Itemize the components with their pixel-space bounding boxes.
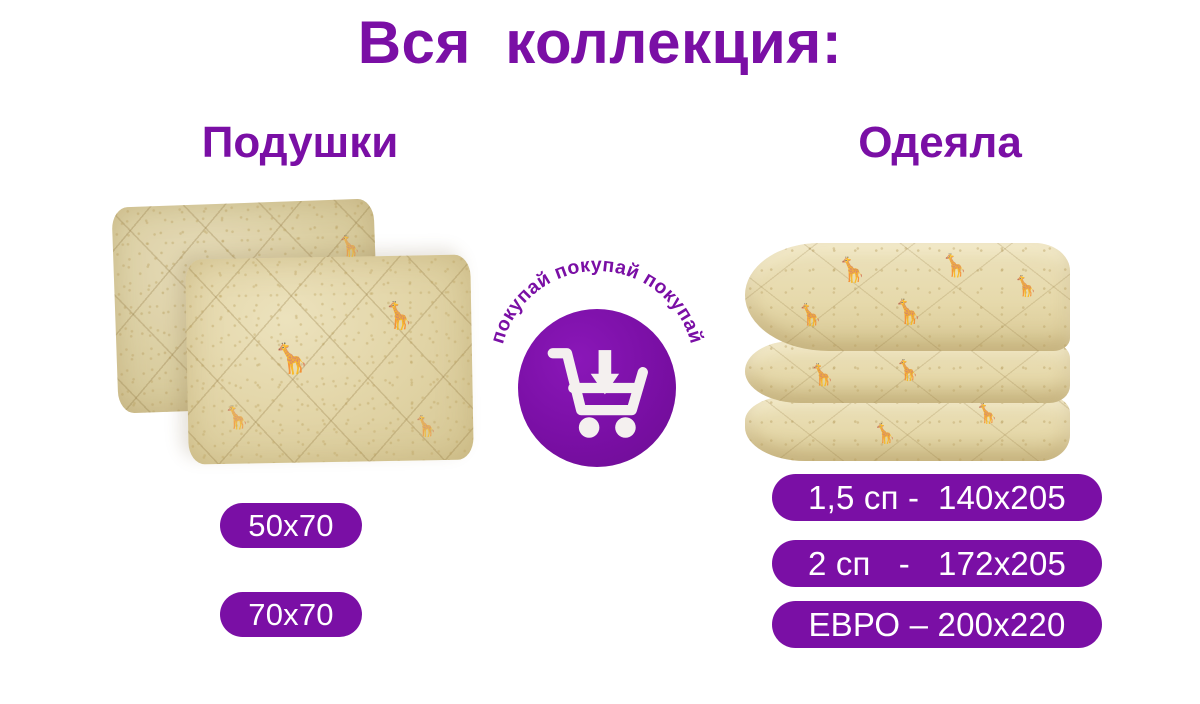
size-pill-blanket-2sp[interactable]: 2 сп - 172x205 xyxy=(772,540,1102,587)
blanket-fold-bottom xyxy=(745,395,1070,461)
size-pill-pillow-50x70[interactable]: 50x70 xyxy=(220,503,362,548)
blanket-product-image: 🦒 🦒 🦒 🦒 🦒 🦒 🦒 🦒 🦒 xyxy=(745,243,1070,463)
buy-badge[interactable]: покупай покупай покупай xyxy=(487,258,707,478)
size-pill-blanket-1-5sp[interactable]: 1,5 сп - 140x205 xyxy=(772,474,1102,521)
section-heading-pillows: Подушки xyxy=(60,118,540,168)
shopping-cart-download-icon xyxy=(518,309,676,467)
blanket-fold-top xyxy=(745,243,1070,351)
size-pill-pillow-70x70[interactable]: 70x70 xyxy=(220,592,362,637)
pillows-product-image: 🦒 🦒 🦒 🦒 🦒 xyxy=(105,195,475,480)
section-heading-blankets: Одеяла xyxy=(700,118,1180,168)
page-title: Вся коллекция: xyxy=(0,8,1200,77)
size-pill-blanket-evro[interactable]: ЕВРО – 200x220 xyxy=(772,601,1102,648)
promo-banner: Вся коллекция: Подушки Одеяла 🦒 🦒 🦒 🦒 🦒 … xyxy=(0,0,1200,704)
pillow-front xyxy=(185,255,474,465)
